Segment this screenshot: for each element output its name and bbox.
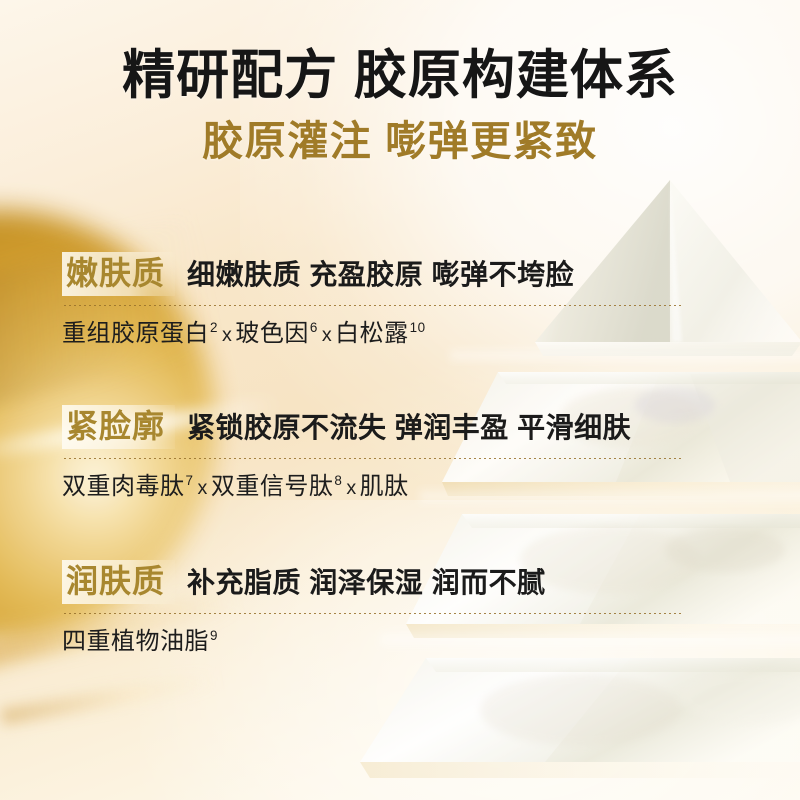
- feature-tag-badge: 润肤质: [62, 560, 175, 604]
- ingredient-name: 双重信号肽: [211, 473, 334, 500]
- ingredient-name: 白松露: [335, 320, 409, 347]
- ingredient-name: 肌肽: [360, 473, 409, 500]
- feature-tagline: 细嫩肤质 充盈胶原 嘭弹不垮脸: [187, 260, 574, 291]
- poster-content: 精研配方 胶原构建体系 胶原灌注 嘭弹更紧致 嫩肤质 细嫩肤质 充盈胶原 嘭弹不…: [0, 0, 800, 800]
- page-subtitle: 胶原灌注 嘭弹更紧致: [0, 119, 800, 165]
- feature-tag-badge: 紧脸廓: [62, 405, 175, 449]
- feature-ingredients: 双重肉毒肽7x双重信号肽8x肌肽: [62, 473, 800, 501]
- page-title: 精研配方 胶原构建体系: [0, 46, 800, 105]
- poster-root: 精研配方 胶原构建体系 胶原灌注 嘭弹更紧致 嫩肤质 细嫩肤质 充盈胶原 嘭弹不…: [0, 0, 800, 800]
- ingredient-name: 玻色因: [235, 320, 309, 347]
- feature-block-nenfuzhi: 嫩肤质 细嫩肤质 充盈胶原 嘭弹不垮脸 重组胶原蛋白2x玻色因6x白松露10: [0, 252, 800, 347]
- feature-heading: 润肤质 补充脂质 润泽保湿 润而不腻: [62, 560, 800, 604]
- feature-list: 嫩肤质 细嫩肤质 充盈胶原 嘭弹不垮脸 重组胶原蛋白2x玻色因6x白松露10 紧…: [0, 252, 800, 655]
- feature-tagline: 紧锁胶原不流失 弹润丰盈 平滑细肤: [187, 413, 631, 444]
- ingredient-name: 四重植物油脂: [62, 628, 209, 655]
- ingredient-separator: x: [318, 324, 335, 346]
- feature-heading: 嫩肤质 细嫩肤质 充盈胶原 嘭弹不垮脸: [62, 252, 800, 296]
- feature-tag-badge: 嫩肤质: [62, 252, 175, 296]
- ingredient-separator: x: [193, 477, 210, 499]
- feature-heading: 紧脸廓 紧锁胶原不流失 弹润丰盈 平滑细肤: [62, 405, 800, 449]
- ingredient-name: 重组胶原蛋白: [62, 320, 209, 347]
- ingredient-footnote: 2: [210, 320, 218, 335]
- feature-block-runfuzhi: 润肤质 补充脂质 润泽保湿 润而不腻 四重植物油脂9: [0, 560, 800, 655]
- feature-divider: [64, 458, 684, 459]
- feature-tagline: 补充脂质 润泽保湿 润而不腻: [187, 568, 546, 599]
- feature-block-jinlianku: 紧脸廓 紧锁胶原不流失 弹润丰盈 平滑细肤 双重肉毒肽7x双重信号肽8x肌肽: [0, 405, 800, 500]
- ingredient-name: 双重肉毒肽: [62, 473, 185, 500]
- ingredient-separator: x: [342, 477, 359, 499]
- ingredient-footnote: 6: [310, 320, 318, 335]
- ingredient-separator: x: [218, 324, 235, 346]
- feature-ingredients: 重组胶原蛋白2x玻色因6x白松露10: [62, 320, 800, 348]
- feature-ingredients: 四重植物油脂9: [62, 628, 800, 656]
- feature-divider: [64, 613, 684, 614]
- feature-divider: [64, 305, 684, 306]
- headings-block: 精研配方 胶原构建体系 胶原灌注 嘭弹更紧致: [0, 0, 800, 165]
- ingredient-footnote: 10: [410, 320, 426, 335]
- ingredient-footnote: 9: [210, 628, 218, 643]
